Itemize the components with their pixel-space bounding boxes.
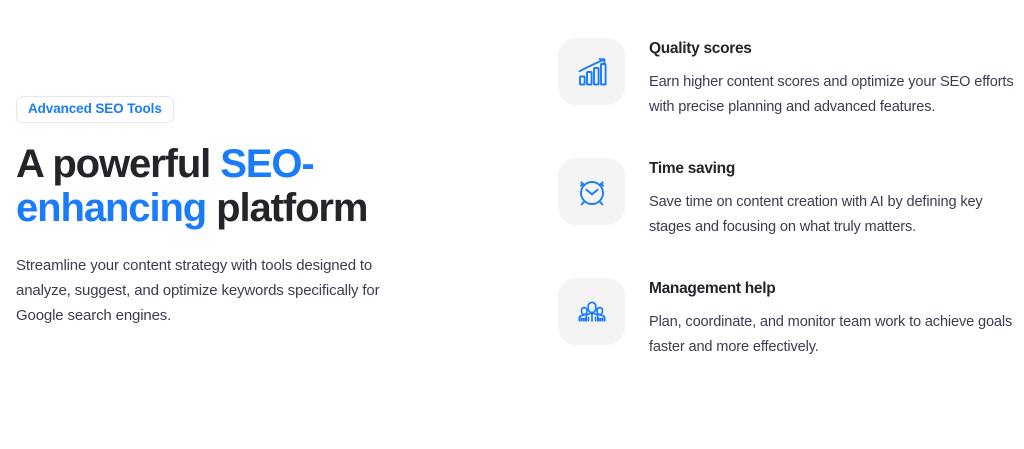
page-title: A powerful SEO-enhancing platform <box>16 142 486 232</box>
feature-text: Time saving Save time on content creatio… <box>649 158 1018 240</box>
team-people-icon <box>558 278 625 345</box>
advanced-seo-tools-badge: Advanced SEO Tools <box>16 96 174 123</box>
bar-chart-growth-icon <box>558 38 625 105</box>
alarm-clock-icon <box>558 158 625 225</box>
page-title-lead: A powerful <box>16 142 220 186</box>
hero-text-column: Advanced SEO Tools A powerful SEO-enhanc… <box>16 96 486 329</box>
hero-section: Advanced SEO Tools A powerful SEO-enhanc… <box>0 0 1024 449</box>
page-title-tail: platform <box>206 186 367 230</box>
feature-description: Plan, coordinate, and monitor team work … <box>649 310 1018 360</box>
feature-description: Save time on content creation with AI by… <box>649 190 1018 240</box>
feature-item-time-saving: Time saving Save time on content creatio… <box>558 158 1018 278</box>
feature-text: Quality scores Earn higher content score… <box>649 38 1018 120</box>
feature-title: Time saving <box>649 160 1018 179</box>
feature-title: Quality scores <box>649 40 1018 59</box>
feature-description: Earn higher content scores and optimize … <box>649 70 1018 120</box>
feature-item-quality-scores: Quality scores Earn higher content score… <box>558 38 1018 158</box>
feature-text: Management help Plan, coordinate, and mo… <box>649 278 1018 360</box>
hero-paragraph: Streamline your content strategy with to… <box>16 253 411 329</box>
feature-list: Quality scores Earn higher content score… <box>558 38 1018 398</box>
feature-title: Management help <box>649 280 1018 299</box>
feature-item-management-help: Management help Plan, coordinate, and mo… <box>558 278 1018 398</box>
